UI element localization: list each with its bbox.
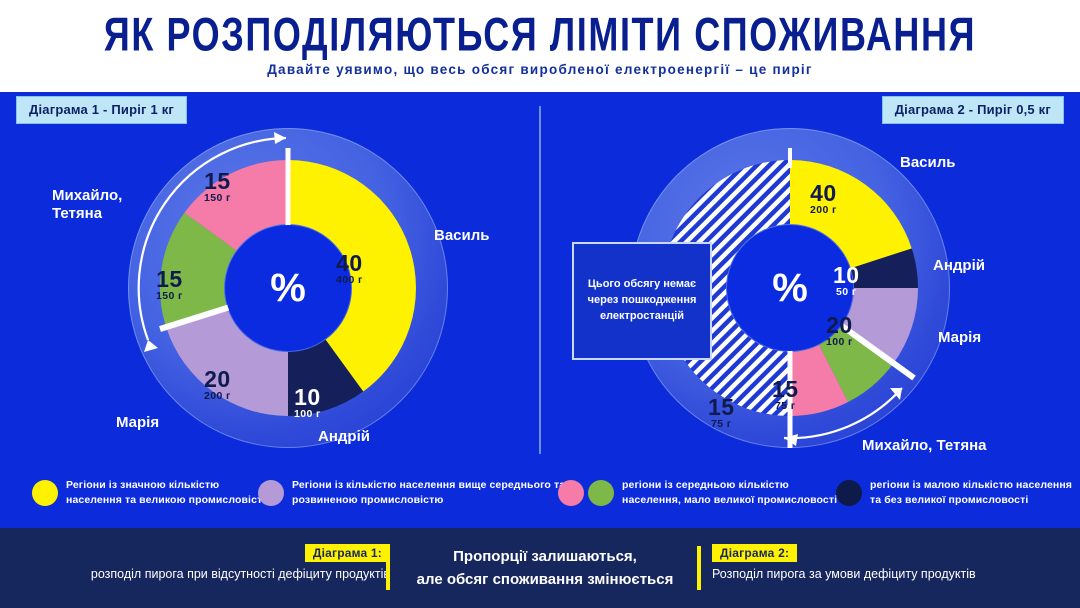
chart1-vasyl-pct: 40 <box>336 252 363 275</box>
chart2-callout: Цього обсягу немає через пошкодження еле… <box>572 242 712 360</box>
legend-text-3-line2: та без великої промисловості <box>870 494 1028 506</box>
chart2-andriy-grams: 50 г <box>833 287 860 298</box>
footer-middle-line2: але обсяг споживання змінюється <box>405 569 685 592</box>
legend-text-2: регіони із середньою кількістю населення… <box>622 478 837 508</box>
chart2-maria-grams: 100 г <box>826 337 853 348</box>
chart2-pink-pct: 15 <box>708 396 735 419</box>
legend-text-0: Регіони із значною кількістю населення т… <box>66 478 271 508</box>
chart2-vasyl-pct: 40 <box>810 182 837 205</box>
legend-text-0-line2: населення та великою промисловістю <box>66 494 271 506</box>
chart1-pink-pct: 15 <box>204 170 231 193</box>
legend: Регіони із значною кількістю населення т… <box>0 468 1080 528</box>
chart1-label-maria: Марія <box>116 414 159 432</box>
chart2-value-pink: 15 75 г <box>708 396 735 430</box>
footer-right-tag: Діаграма 2: <box>712 544 797 562</box>
chart2-green-pct: 15 <box>772 378 799 401</box>
chart1-green-pct: 15 <box>156 268 183 291</box>
footer-left-tag: Діаграма 1: <box>305 544 390 562</box>
footer: Діаграма 1: розподіл пирога при відсутно… <box>0 528 1080 608</box>
chart1-label-andriy: Андрій <box>318 428 370 446</box>
chart2-pink-grams: 75 г <box>708 419 735 430</box>
chart2-value-maria: 20 100 г <box>826 314 853 348</box>
header: ЯК РОЗПОДІЛЯЮТЬСЯ ЛІМІТИ СПОЖИВАННЯ Дава… <box>0 0 1080 92</box>
chart1-donut: % 40 400 г 10 100 г 20 200 г 15 150 г <box>128 128 448 448</box>
legend-item-0: Регіони із значною кількістю населення т… <box>32 478 271 508</box>
footer-middle: Пропорції залишаються, але обсяг спожива… <box>405 546 685 591</box>
chart2-label-vasyl: Василь <box>900 154 956 172</box>
chart1-label-vasyl: Василь <box>434 227 490 245</box>
legend-swatch-pair <box>558 480 614 506</box>
legend-swatch-purple-icon <box>258 480 284 506</box>
charts-panel: Діаграма 1 - Пиріг 1 кг Діаграма 2 - Пир… <box>0 92 1080 468</box>
legend-item-1: Регіони із кількістю населення вище сере… <box>258 478 565 508</box>
footer-left-note: розподіл пирога при відсутності дефіциту… <box>70 565 390 584</box>
chart2-label-maria: Марія <box>938 329 981 347</box>
chart2-maria-pct: 20 <box>826 314 853 337</box>
footer-divider-right <box>697 546 701 590</box>
chart2-percent-symbol: % <box>772 268 808 308</box>
chart1-value-andriy: 10 100 г <box>294 386 321 420</box>
chart2-value-green: 15 75 г <box>772 378 799 412</box>
legend-swatch-yellow-icon <box>32 480 58 506</box>
page-title: ЯК РОЗПОДІЛЯЮТЬСЯ ЛІМІТИ СПОЖИВАННЯ <box>0 7 1080 62</box>
infographic-root: ЯК РОЗПОДІЛЯЮТЬСЯ ЛІМІТИ СПОЖИВАННЯ Дава… <box>0 0 1080 608</box>
chart1-maria-grams: 200 г <box>204 391 231 402</box>
chart1-value-green: 15 150 г <box>156 268 183 302</box>
chart1-maria-pct: 20 <box>204 368 231 391</box>
legend-text-1-line1: Регіони із кількістю населення вище сере… <box>292 479 565 491</box>
legend-item-2: регіони із середньою кількістю населення… <box>558 478 837 508</box>
chart1-andriy-grams: 100 г <box>294 409 321 420</box>
chart1-value-pink: 15 150 г <box>204 170 231 204</box>
legend-swatch-pink-icon <box>558 480 584 506</box>
legend-swatch-navy-icon <box>836 480 862 506</box>
legend-text-1: Регіони із кількістю населення вище сере… <box>292 478 565 508</box>
chart2-vasyl-grams: 200 г <box>810 205 837 216</box>
page-subtitle: Давайте уявимо, що весь обсяг виробленої… <box>0 62 1080 77</box>
footer-divider-left <box>386 546 390 590</box>
chart1-value-maria: 20 200 г <box>204 368 231 402</box>
legend-text-3-line1: регіони із малою кількістю населення <box>870 479 1072 491</box>
vertical-divider <box>539 106 541 454</box>
legend-text-2-line1: регіони із середньою кількістю <box>622 479 789 491</box>
chart1-label-mykhailo-tetyana: Михайло, Тетяна <box>52 187 122 223</box>
footer-middle-line1: Пропорції залишаються, <box>405 546 685 569</box>
legend-text-0-line1: Регіони із значною кількістю <box>66 479 219 491</box>
footer-right: Діаграма 2: Розподіл пирога за умови деф… <box>712 544 1052 584</box>
legend-text-2-line2: населення, мало великої промисловості <box>622 494 837 506</box>
legend-item-3: регіони із малою кількістю населення та … <box>836 478 1072 508</box>
chart2-label-andriy: Андрій <box>933 257 985 275</box>
legend-swatch-green-icon <box>588 480 614 506</box>
chart1-vasyl-grams: 400 г <box>336 275 363 286</box>
chart2-label-mykhailo-tetyana: Михайло, Тетяна <box>862 437 987 455</box>
legend-text-3: регіони із малою кількістю населення та … <box>870 478 1072 508</box>
chart1-percent-symbol: % <box>270 268 306 308</box>
footer-right-note: Розподіл пирога за умови дефіциту продук… <box>712 565 1052 584</box>
chart1-andriy-pct: 10 <box>294 386 321 409</box>
chart1-pink-grams: 150 г <box>204 193 231 204</box>
chart1-badge: Діаграма 1 - Пиріг 1 кг <box>16 96 187 124</box>
legend-text-1-line2: розвиненою промисловістю <box>292 494 443 506</box>
chart1-green-grams: 150 г <box>156 291 183 302</box>
chart2-badge: Діаграма 2 - Пиріг 0,5 кг <box>882 96 1064 124</box>
footer-left: Діаграма 1: розподіл пирога при відсутно… <box>70 544 390 584</box>
chart2-value-andriy: 10 50 г <box>833 264 860 298</box>
chart1-center: % <box>225 225 351 351</box>
chart2-andriy-pct: 10 <box>833 264 860 287</box>
chart2-green-grams: 75 г <box>772 401 799 412</box>
chart2-value-vasyl: 40 200 г <box>810 182 837 216</box>
chart1-value-vasyl: 40 400 г <box>336 252 363 286</box>
